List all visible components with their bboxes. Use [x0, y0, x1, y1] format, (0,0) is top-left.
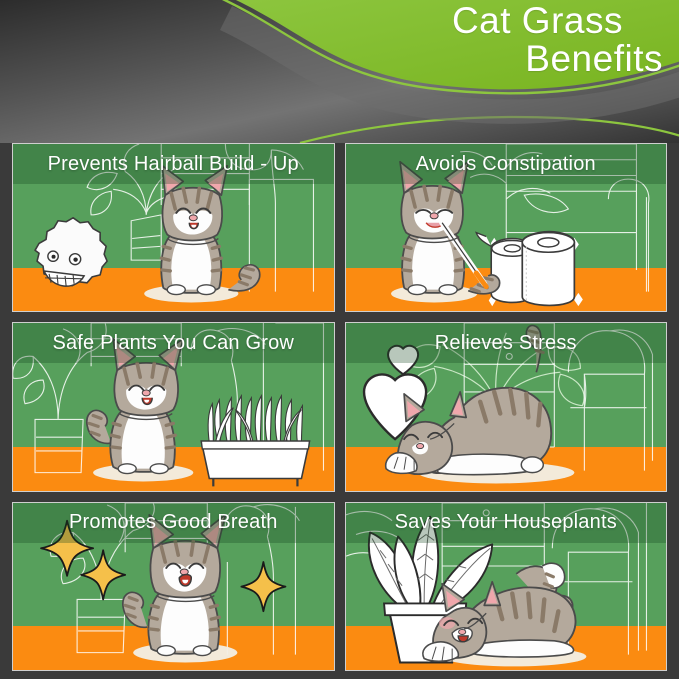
header-banner: Cat Grass Benefits	[0, 0, 679, 143]
panel-title: Promotes Good Breath	[69, 511, 278, 534]
cat-figure	[161, 166, 259, 295]
panel-title: Relieves Stress	[435, 332, 577, 355]
header-title-line-1: Cat Grass	[452, 2, 665, 40]
panel-title-bar: Relieves Stress	[346, 323, 667, 363]
benefit-panel-relieves-stress[interactable]: Relieves Stress	[345, 322, 668, 491]
benefit-panel-safe-plants-you-can-grow[interactable]: Safe Plants You Can Grow	[12, 322, 335, 491]
grass-planter	[201, 396, 309, 487]
panel-title: Safe Plants You Can Grow	[52, 332, 294, 355]
benefit-panel-avoids-constipation[interactable]: Avoids Constipation	[345, 143, 668, 312]
panel-title: Avoids Constipation	[416, 153, 596, 176]
infographic-canvas: Cat Grass Benefits	[0, 0, 679, 679]
panel-title: Prevents Hairball Build - Up	[48, 153, 299, 176]
panel-title-bar: Safe Plants You Can Grow	[13, 323, 334, 363]
header-title-block: Cat Grass Benefits	[452, 2, 665, 77]
benefits-grid: Prevents Hairball Build - Up	[12, 143, 667, 671]
panel-title-bar: Prevents Hairball Build - Up	[13, 144, 334, 184]
panel-title-bar: Promotes Good Breath	[13, 503, 334, 543]
panel-title-bar: Saves Your Houseplants	[346, 503, 667, 543]
benefit-panel-saves-your-houseplants[interactable]: Saves Your Houseplants	[345, 502, 668, 671]
header-title-line-2: Benefits	[452, 40, 665, 78]
panel-title: Saves Your Houseplants	[395, 511, 617, 534]
panel-title-bar: Avoids Constipation	[346, 144, 667, 184]
toilet-paper-rolls	[476, 232, 574, 306]
hairball-figure	[35, 218, 107, 286]
benefit-panel-prevents-hairball-build-up[interactable]: Prevents Hairball Build - Up	[12, 143, 335, 312]
benefit-panel-promotes-good-breath[interactable]: Promotes Good Breath	[12, 502, 335, 671]
